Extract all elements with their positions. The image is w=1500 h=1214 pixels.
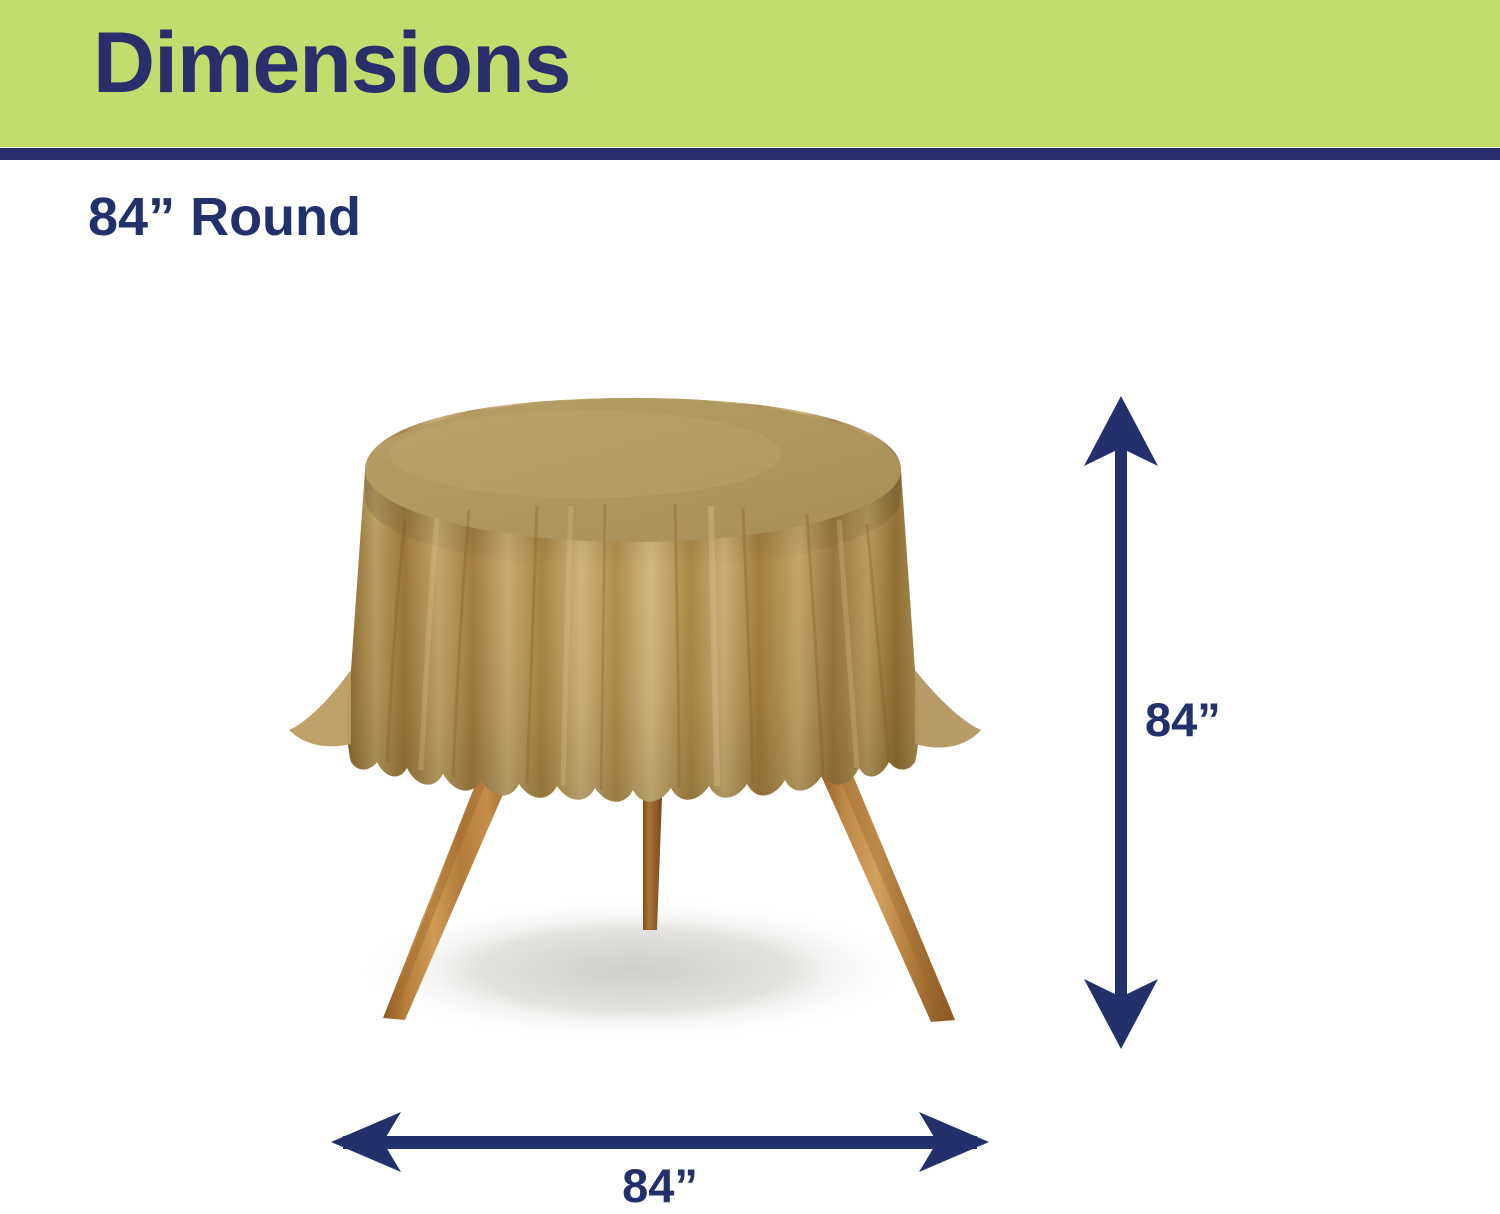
- tablecloth-corner-left: [289, 670, 351, 746]
- product-size-subtitle: 84” Round: [88, 186, 361, 248]
- horizontal-dimension-label: 84”: [0, 1158, 1320, 1213]
- tablecloth: [289, 398, 981, 802]
- product-illustration: [255, 370, 1055, 1070]
- page-title: Dimensions: [93, 18, 570, 108]
- tablecloth-corner-right: [915, 670, 981, 748]
- header-divider-rule: [0, 148, 1500, 160]
- vertical-dimension-label: 84”: [1145, 692, 1221, 747]
